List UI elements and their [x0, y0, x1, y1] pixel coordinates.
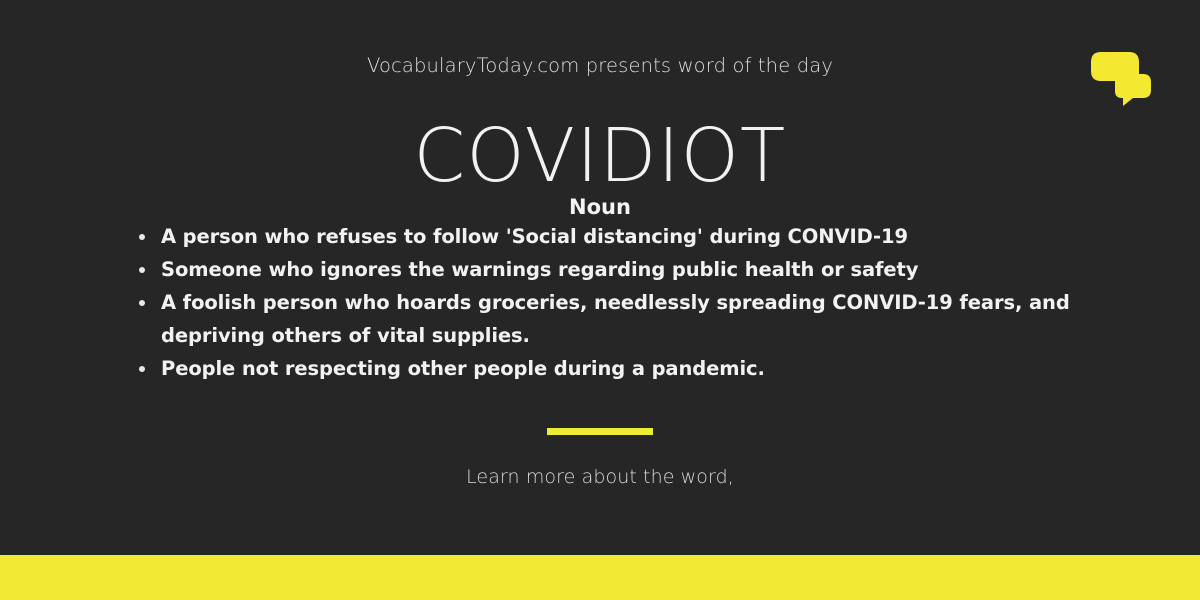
- divider: [547, 428, 653, 435]
- definition-list: A person who refuses to follow 'Social d…: [138, 220, 1088, 385]
- list-item: Someone who ignores the warnings regardi…: [138, 253, 1088, 286]
- speech-bubbles-icon: [1089, 48, 1153, 106]
- bottom-accent-bar: [0, 555, 1200, 600]
- page-title: COVIDIOT: [0, 119, 1200, 193]
- list-item: A foolish person who hoards groceries, n…: [138, 286, 1088, 352]
- list-item: People not respecting other people durin…: [138, 352, 1088, 385]
- list-item: A person who refuses to follow 'Social d…: [138, 220, 1088, 253]
- learn-more-text: Learn more about the word,: [0, 466, 1200, 488]
- part-of-speech: Noun: [0, 195, 1200, 219]
- site-tagline: VocabularyToday.com presents word of the…: [0, 54, 1200, 77]
- word-of-the-day-card: VocabularyToday.com presents word of the…: [0, 0, 1200, 600]
